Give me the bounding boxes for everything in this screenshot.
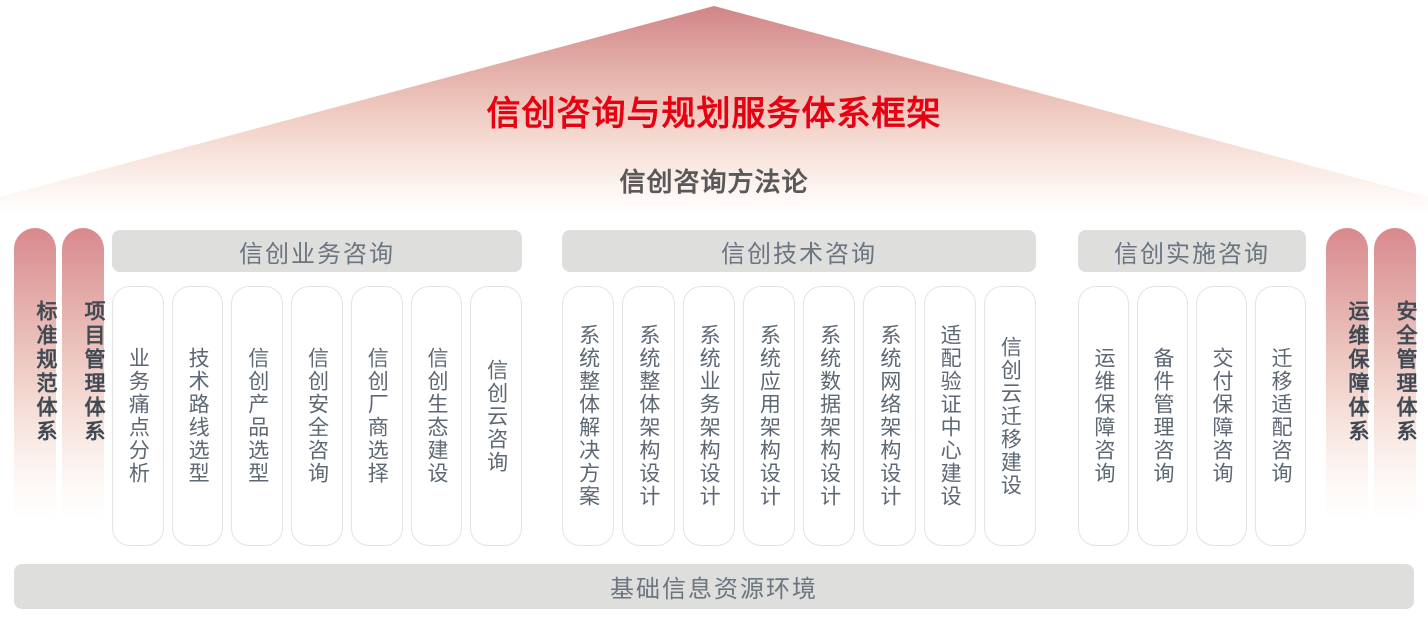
card-item[interactable]: 信创云咨询 — [470, 286, 522, 546]
card-item[interactable]: 信创厂商选择 — [351, 286, 403, 546]
card-item[interactable]: 系统网络架构设计 — [863, 286, 915, 546]
card-item[interactable]: 信创产品选型 — [231, 286, 283, 546]
card-label: 备件管理咨询 — [1152, 347, 1173, 485]
card-label: 信创云迁移建设 — [999, 336, 1020, 497]
group-header-implementation-consulting[interactable]: 信创实施咨询 — [1078, 230, 1306, 272]
card-item[interactable]: 迁移适配咨询 — [1255, 286, 1306, 546]
card-item[interactable]: 交付保障咨询 — [1196, 286, 1247, 546]
card-list-business-consulting: 业务痛点分析 技术路线选型 信创产品选型 信创安全咨询 信创厂商选择 信创生态建… — [112, 286, 522, 546]
card-label: 信创云咨询 — [486, 359, 507, 474]
card-label: 适配验证中心建设 — [939, 324, 960, 508]
page-title: 信创咨询与规划服务体系框架 — [0, 96, 1428, 133]
group-header-label: 信创实施咨询 — [1114, 234, 1270, 269]
card-label: 运维保障咨询 — [1093, 347, 1114, 485]
card-label: 业务痛点分析 — [127, 347, 148, 485]
card-item[interactable]: 系统整体架构设计 — [622, 286, 674, 546]
base-bar: 基础信息资源环境 — [14, 564, 1414, 609]
card-label: 系统业务架构设计 — [698, 324, 719, 508]
card-item[interactable]: 信创生态建设 — [411, 286, 463, 546]
group-technology-consulting: 信创技术咨询 系统整体解决方案 系统整体架构设计 系统业务架构设计 系统应用架构… — [562, 230, 1036, 546]
card-item[interactable]: 技术路线选型 — [172, 286, 224, 546]
card-item[interactable]: 信创云迁移建设 — [984, 286, 1036, 546]
card-label: 迁移适配咨询 — [1270, 347, 1291, 485]
page-subtitle: 信创咨询方法论 — [0, 168, 1428, 197]
group-header-label: 信创业务咨询 — [239, 234, 395, 269]
card-item[interactable]: 系统数据架构设计 — [803, 286, 855, 546]
card-item[interactable]: 系统应用架构设计 — [743, 286, 795, 546]
pillar-label-ops-assurance: 运维保障体系 — [1326, 300, 1368, 444]
base-bar-label: 基础信息资源环境 — [610, 569, 818, 604]
group-business-consulting: 信创业务咨询 业务痛点分析 技术路线选型 信创产品选型 信创安全咨询 信创厂商选… — [112, 230, 522, 546]
card-label: 信创生态建设 — [426, 347, 447, 485]
card-label: 信创厂商选择 — [366, 347, 387, 485]
card-label: 系统网络架构设计 — [879, 324, 900, 508]
group-header-business-consulting[interactable]: 信创业务咨询 — [112, 230, 522, 272]
card-label: 系统数据架构设计 — [819, 324, 840, 508]
card-label: 系统整体解决方案 — [578, 324, 599, 508]
pillar-label-project-management: 项目管理体系 — [62, 300, 104, 444]
card-item[interactable]: 运维保障咨询 — [1078, 286, 1129, 546]
group-header-technology-consulting[interactable]: 信创技术咨询 — [562, 230, 1036, 272]
card-item[interactable]: 信创安全咨询 — [291, 286, 343, 546]
group-header-label: 信创技术咨询 — [721, 234, 877, 269]
card-label: 系统应用架构设计 — [758, 324, 779, 508]
card-label: 交付保障咨询 — [1211, 347, 1232, 485]
card-item[interactable]: 系统业务架构设计 — [683, 286, 735, 546]
card-item[interactable]: 适配验证中心建设 — [924, 286, 976, 546]
card-item[interactable]: 系统整体解决方案 — [562, 286, 614, 546]
card-item[interactable]: 备件管理咨询 — [1137, 286, 1188, 546]
pillar-label-standard-spec: 标准规范体系 — [14, 300, 56, 444]
card-label: 信创安全咨询 — [307, 347, 328, 485]
card-label: 系统整体架构设计 — [638, 324, 659, 508]
group-implementation-consulting: 信创实施咨询 运维保障咨询 备件管理咨询 交付保障咨询 迁移适配咨询 — [1078, 230, 1306, 546]
card-label: 信创产品选型 — [247, 347, 268, 485]
pillar-label-security-management: 安全管理体系 — [1374, 300, 1416, 444]
card-label: 技术路线选型 — [187, 347, 208, 485]
card-list-implementation-consulting: 运维保障咨询 备件管理咨询 交付保障咨询 迁移适配咨询 — [1078, 286, 1306, 546]
card-item[interactable]: 业务痛点分析 — [112, 286, 164, 546]
card-list-technology-consulting: 系统整体解决方案 系统整体架构设计 系统业务架构设计 系统应用架构设计 系统数据… — [562, 286, 1036, 546]
